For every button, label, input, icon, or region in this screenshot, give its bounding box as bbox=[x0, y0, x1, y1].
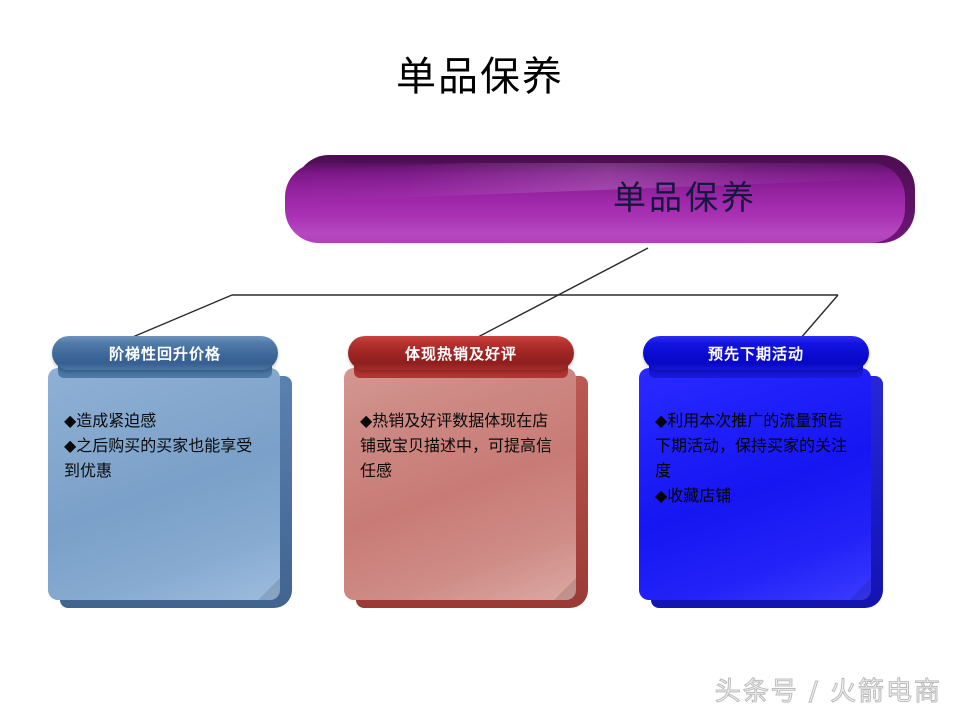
slide-canvas: 单品保养 单品保养 阶梯性回升价格 ◆造成紧迫感 ◆之后购买的买家也能享受到优惠… bbox=[0, 0, 960, 720]
box-header-label: 阶梯性回升价格 bbox=[52, 336, 278, 370]
box-body-text: ◆造成紧迫感 ◆之后购买的买家也能享受到优惠 bbox=[64, 408, 264, 483]
banner-label: 单品保养 bbox=[285, 155, 905, 235]
connector-to-right-box bbox=[800, 295, 838, 339]
page-title: 单品保养 bbox=[0, 52, 960, 102]
box-body-text: ◆热销及好评数据体现在店铺或宝贝描述中，可提高信任感 bbox=[360, 408, 560, 483]
connector-to-left-box bbox=[128, 295, 232, 339]
content-box-hot-sales-reviews[interactable]: 体现热销及好评 ◆热销及好评数据体现在店铺或宝贝描述中，可提高信任感 bbox=[338, 336, 588, 611]
box-header-label: 预先下期活动 bbox=[643, 336, 869, 370]
box-body-text: ◆利用本次推广的流量预告下期活动，保持买家的关注度 ◆收藏店铺 bbox=[655, 408, 855, 508]
box-header-label: 体现热销及好评 bbox=[348, 336, 574, 370]
main-banner[interactable]: 单品保养 bbox=[285, 155, 915, 250]
box-body bbox=[48, 368, 280, 600]
watermark-text: 头条号 / 火箭电商 bbox=[715, 671, 942, 708]
content-box-next-campaign-preview[interactable]: 预先下期活动 ◆利用本次推广的流量预告下期活动，保持买家的关注度 ◆收藏店铺 bbox=[633, 336, 883, 611]
box-body bbox=[344, 368, 576, 600]
content-box-stepped-price[interactable]: 阶梯性回升价格 ◆造成紧迫感 ◆之后购买的买家也能享受到优惠 bbox=[42, 336, 292, 611]
connector-banner-to-middle bbox=[478, 248, 648, 337]
